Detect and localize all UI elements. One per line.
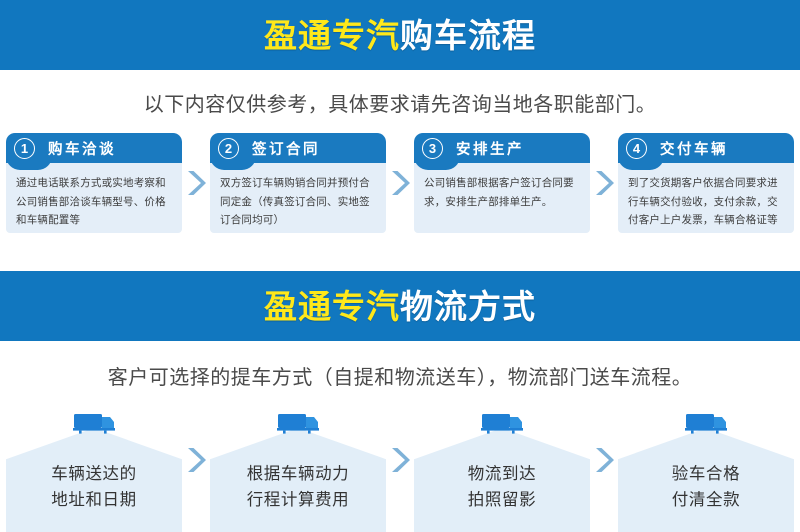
step-number-badge-4: 4 (626, 138, 647, 159)
logistics-card-2[interactable]: 根据车辆动力 行程计算费用 (210, 410, 386, 532)
chevron-right-icon-1 (182, 133, 210, 233)
brand-name: 盈通专汽 (264, 17, 400, 54)
step-number-badge-2: 2 (218, 138, 239, 159)
logistics-card-3-line2: 拍照留影 (468, 488, 536, 514)
chevron-right-icon-4 (182, 410, 210, 532)
step-title-3: 安排生产 (456, 138, 524, 159)
logistics-card-3-line1: 物流到达 (468, 462, 536, 488)
chevron-right-icon-6 (590, 410, 618, 532)
logistics-card-1[interactable]: 车辆送达的 地址和日期 (6, 410, 182, 532)
purchase-steps-row: 1 购车洽谈 通过电话联系方式或实地考察和公司销售部洽谈车辆型号、价格和车辆配置… (0, 133, 800, 243)
logistics-cards-row: 车辆送达的 地址和日期 根据车辆动力 行程计算费用 (0, 406, 800, 532)
step-number-badge-3: 3 (422, 138, 443, 159)
step-body-4: 到了交货期客户依据合同要求进行车辆交付验收，支付余款，交付客户上户发票，车辆合格… (618, 163, 794, 233)
logistics-card-2-body: 根据车辆动力 行程计算费用 (210, 428, 386, 532)
logistics-card-2-line1: 根据车辆动力 (247, 462, 350, 488)
step-card-2-header: 2 签订合同 (210, 133, 386, 163)
step-title-1: 购车洽谈 (48, 138, 116, 159)
step-card-2[interactable]: 2 签订合同 双方签订车辆购销合同并预付合同定金（传真签订合同、实地签订合同均可… (210, 133, 386, 233)
truck-icon-1 (70, 410, 118, 436)
logistics-banner-subject: 物流方式 (400, 288, 536, 325)
step-card-4-header: 4 交付车辆 (618, 133, 794, 163)
logistics-card-4[interactable]: 验车合格 付清全款 (618, 410, 794, 532)
logistics-card-4-body: 验车合格 付清全款 (618, 428, 794, 532)
chevron-right-icon-5 (386, 410, 414, 532)
logistics-card-3-body: 物流到达 拍照留影 (414, 428, 590, 532)
logistics-banner: 盈通专汽物流方式 (0, 271, 800, 341)
logistics-subheadline: 客户可选择的提车方式（自提和物流送车），物流部门送车流程。 (0, 341, 800, 406)
logistics-card-4-line1: 验车合格 (672, 462, 740, 488)
purchase-banner-subject: 购车流程 (400, 17, 536, 54)
logistics-card-1-line2: 地址和日期 (51, 488, 137, 514)
truck-icon-4 (682, 410, 730, 436)
purchase-subheadline: 以下内容仅供参考，具体要求请先咨询当地各职能部门。 (0, 70, 800, 133)
step-card-1-header: 1 购车洽谈 (6, 133, 182, 163)
logistics-card-1-line1: 车辆送达的 (51, 462, 137, 488)
step-body-1: 通过电话联系方式或实地考察和公司销售部洽谈车辆型号、价格和车辆配置等 (6, 163, 182, 233)
purchase-banner-title: 盈通专汽购车流程 (264, 19, 536, 52)
step-card-3-header: 3 安排生产 (414, 133, 590, 163)
truck-icon-3 (478, 410, 526, 436)
step-title-4: 交付车辆 (660, 138, 728, 159)
logistics-card-3[interactable]: 物流到达 拍照留影 (414, 410, 590, 532)
section-spacer (0, 243, 800, 271)
chevron-right-icon-3 (590, 133, 618, 233)
step-number-badge-1: 1 (14, 138, 35, 159)
step-body-2: 双方签订车辆购销合同并预付合同定金（传真签订合同、实地签订合同均可） (210, 163, 386, 233)
step-body-3: 公司销售部根据客户签订合同要求，安排生产部排单生产。 (414, 163, 590, 219)
chevron-right-icon-2 (386, 133, 414, 233)
step-card-1[interactable]: 1 购车洽谈 通过电话联系方式或实地考察和公司销售部洽谈车辆型号、价格和车辆配置… (6, 133, 182, 233)
logistics-banner-title: 盈通专汽物流方式 (264, 290, 536, 323)
step-card-3[interactable]: 3 安排生产 公司销售部根据客户签订合同要求，安排生产部排单生产。 (414, 133, 590, 233)
logistics-card-4-line2: 付清全款 (672, 488, 740, 514)
brand-name-2: 盈通专汽 (264, 288, 400, 325)
truck-icon-2 (274, 410, 322, 436)
purchase-banner: 盈通专汽购车流程 (0, 0, 800, 70)
step-title-2: 签订合同 (252, 138, 320, 159)
step-card-4[interactable]: 4 交付车辆 到了交货期客户依据合同要求进行车辆交付验收，支付余款，交付客户上户… (618, 133, 794, 233)
logistics-card-2-line2: 行程计算费用 (247, 488, 350, 514)
logistics-card-1-body: 车辆送达的 地址和日期 (6, 428, 182, 532)
